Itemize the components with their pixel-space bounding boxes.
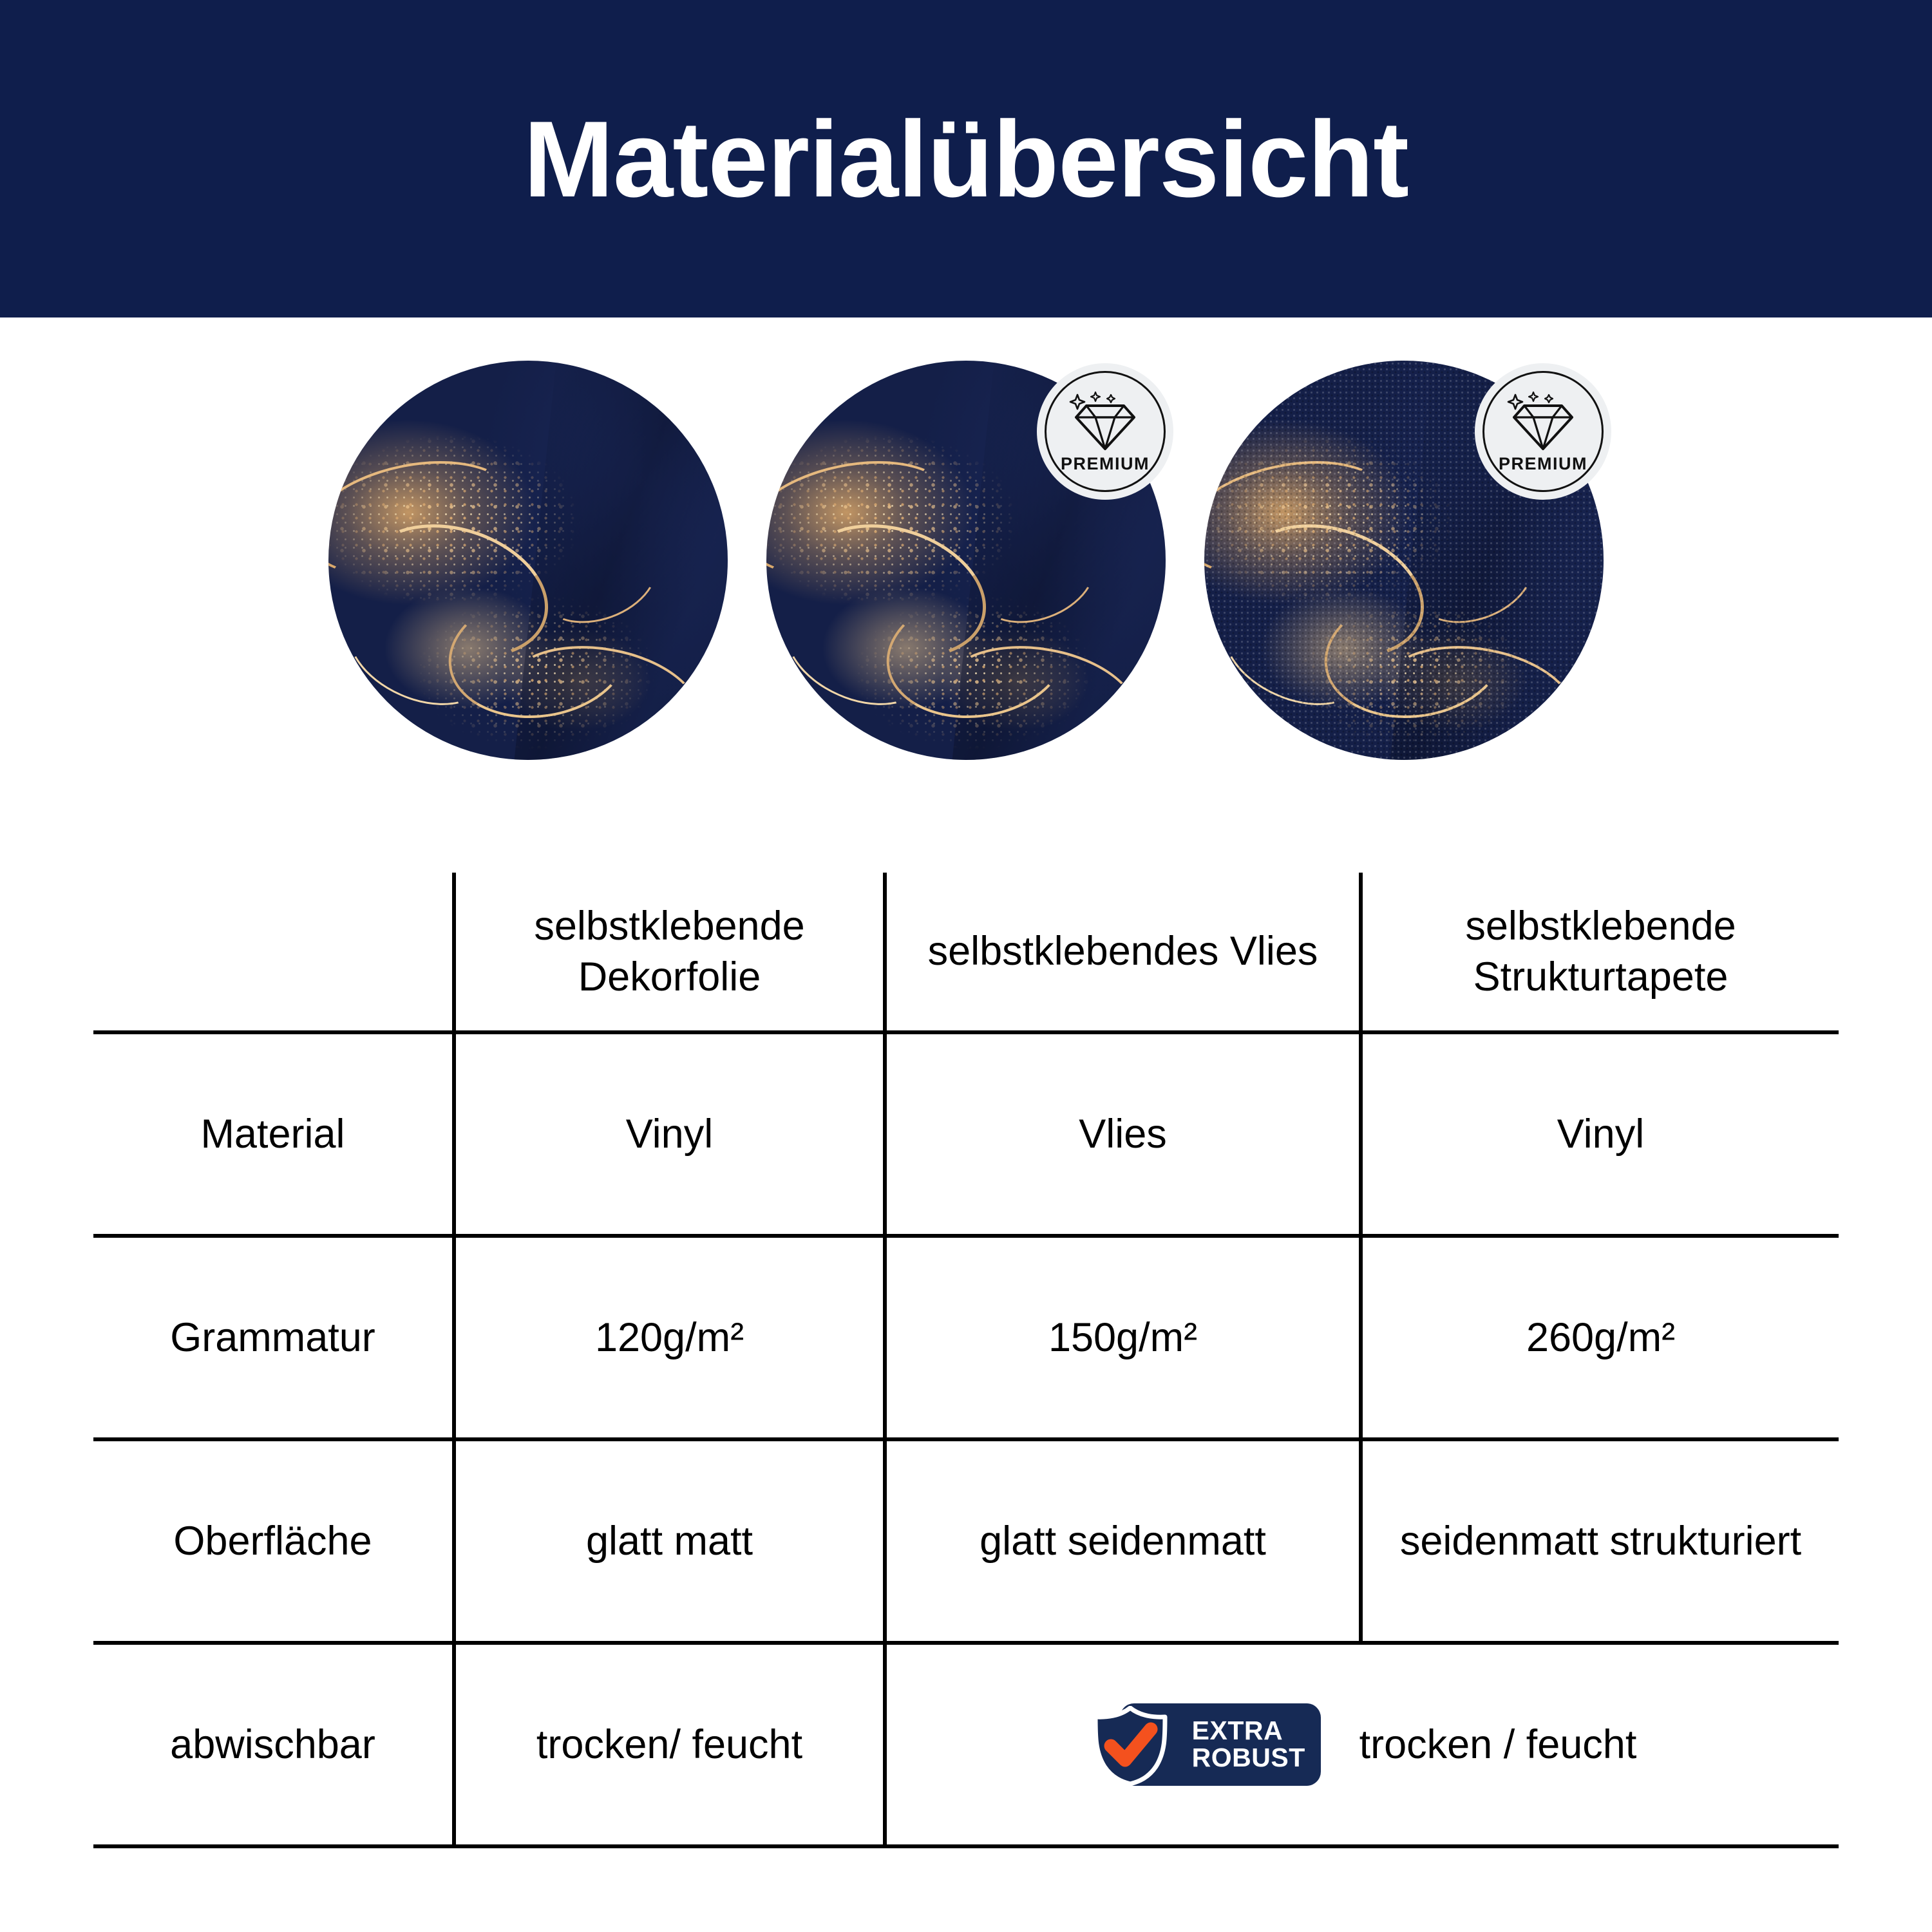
premium-badge-label: PREMIUM [1061, 455, 1150, 473]
row-label-material: Material [93, 1032, 454, 1236]
material-comparison-table: selbstklebende Dekorfolie selbstklebende… [93, 873, 1839, 1848]
table-row-material: Material Vinyl Vlies Vinyl [93, 1032, 1839, 1236]
robust-badge-line1: EXTRA [1192, 1718, 1283, 1745]
column-header-strukturtapete: selbstklebende Strukturtapete [1361, 873, 1839, 1032]
cell-material-strukturtapete: Vinyl [1361, 1032, 1839, 1236]
premium-badge-label: PREMIUM [1499, 455, 1587, 473]
cell-oberflaeche-dekorfolie: glatt matt [454, 1439, 885, 1643]
cell-oberflaeche-strukturtapete: seidenmatt strukturiert [1361, 1439, 1839, 1643]
cell-grammatur-dekorfolie: 120g/m² [454, 1236, 885, 1439]
swatch-strukturtapete[interactable]: PREMIUM [1204, 361, 1604, 760]
robust-badge-line2: ROBUST [1192, 1745, 1305, 1772]
gold-speckles [328, 361, 728, 760]
header-bar: Materialübersicht [0, 0, 1932, 317]
cell-oberflaeche-vlies: glatt seidenmatt [885, 1439, 1361, 1643]
cell-abwischbar-merged-text: trocken / feucht [1359, 1720, 1637, 1770]
table-header-row: selbstklebende Dekorfolie selbstklebende… [93, 873, 1839, 1032]
cell-grammatur-strukturtapete: 260g/m² [1361, 1236, 1839, 1439]
swatch-vlies[interactable]: PREMIUM [766, 361, 1166, 760]
diamond-icon [1067, 391, 1143, 453]
row-label-grammatur: Grammatur [93, 1236, 454, 1439]
cell-material-vlies: Vlies [885, 1032, 1361, 1236]
cell-abwischbar-merged: EXTRA ROBUST trocken / [885, 1643, 1839, 1846]
table-row-oberflaeche: Oberfläche glatt matt glatt seidenmatt s… [93, 1439, 1839, 1643]
cell-material-dekorfolie: Vinyl [454, 1032, 885, 1236]
swatch-row: PREMIUM [0, 361, 1932, 773]
page-title: Materialübersicht [524, 105, 1408, 213]
table-row-abwischbar: abwischbar trocken/ feucht EXTRA ROBUST [93, 1643, 1839, 1846]
row-label-oberflaeche: Oberfläche [93, 1439, 454, 1643]
table-corner-cell [93, 873, 454, 1032]
row-label-abwischbar: abwischbar [93, 1643, 454, 1846]
swatch-image-dekorfolie [328, 361, 728, 760]
premium-badge: PREMIUM [1475, 363, 1611, 500]
column-header-vlies: selbstklebendes Vlies [885, 873, 1361, 1032]
swatch-dekorfolie[interactable] [328, 361, 728, 760]
cell-grammatur-vlies: 150g/m² [885, 1236, 1361, 1439]
cell-abwischbar-dekorfolie: trocken/ feucht [454, 1643, 885, 1846]
material-overview-page: Materialübersicht [0, 0, 1932, 1932]
diamond-icon [1505, 391, 1581, 453]
extra-robust-badge: EXTRA ROBUST [1089, 1703, 1321, 1786]
table-row-grammatur: Grammatur 120g/m² 150g/m² 260g/m² [93, 1236, 1839, 1439]
premium-badge: PREMIUM [1037, 363, 1173, 500]
shield-check-icon [1089, 1706, 1171, 1786]
column-header-dekorfolie: selbstklebende Dekorfolie [454, 873, 885, 1032]
